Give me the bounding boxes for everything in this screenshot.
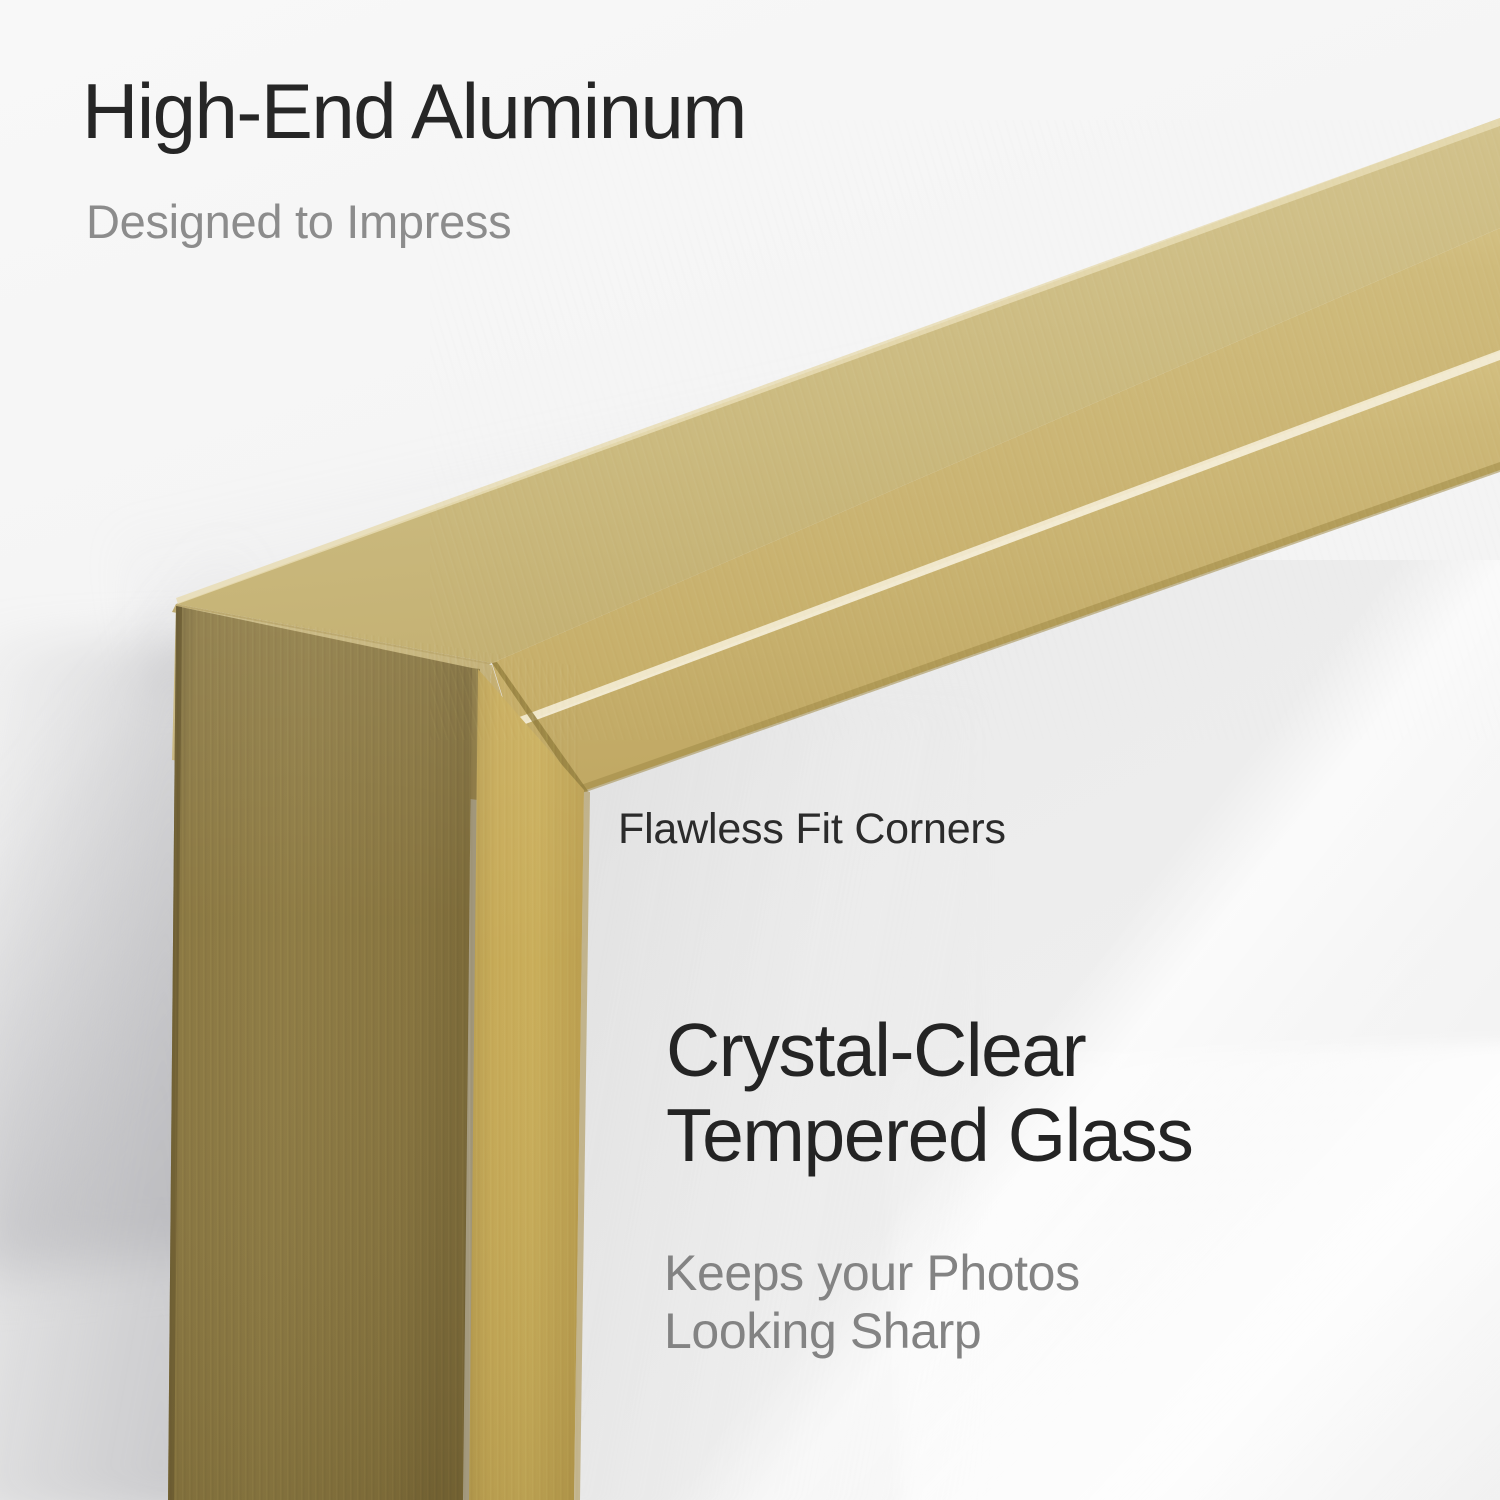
page-title: High-End Aluminum [82,72,746,150]
brushed-texture-top-rail [430,120,1500,740]
feature-sub-line-1: Keeps your Photos [664,1245,1080,1301]
feature-subtitle: Keeps your PhotosLooking Sharp [664,1244,1080,1360]
product-feature-graphic: High-End Aluminum Designed to Impress Fl… [0,0,1500,1500]
feature-title-line-2: Tempered Glass [666,1093,1192,1177]
page-subtitle: Designed to Impress [86,198,511,245]
feature-title-line-1: Crystal-Clear [666,1008,1085,1092]
callout-flawless-fit-corners: Flawless Fit Corners [618,808,1006,851]
feature-title: Crystal-ClearTempered Glass [666,1008,1192,1178]
feature-sub-line-2: Looking Sharp [664,1303,981,1359]
